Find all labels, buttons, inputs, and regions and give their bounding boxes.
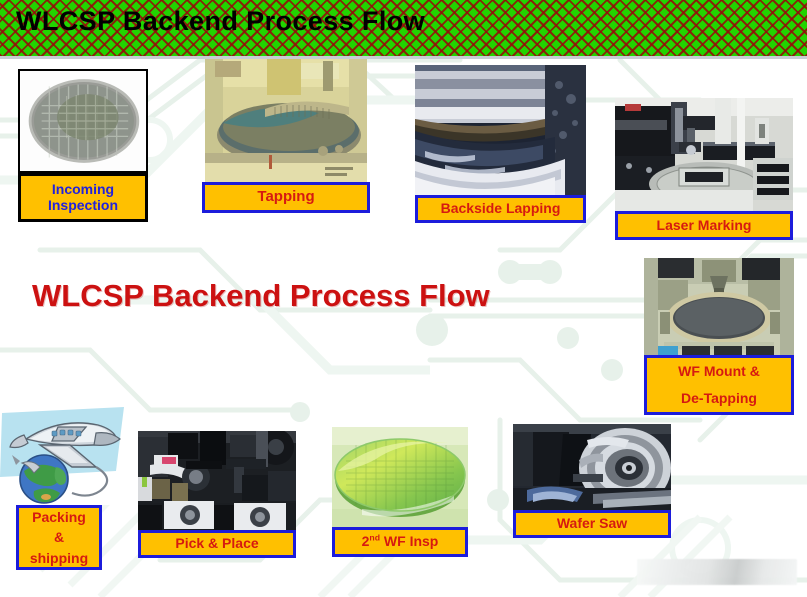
wafer-disc-photo bbox=[18, 69, 148, 173]
wf-mount-photo bbox=[644, 258, 794, 355]
step-label-laser-marking[interactable]: Laser Marking bbox=[615, 211, 793, 240]
watermark-blur bbox=[637, 559, 797, 585]
center-heading: WLCSP Backend Process Flow bbox=[32, 278, 490, 314]
step-label-wafer-saw[interactable]: Wafer Saw bbox=[513, 510, 671, 538]
label-line: 2nd WF Insp bbox=[362, 534, 439, 550]
backside-lapping-photo bbox=[415, 65, 586, 195]
process-step-wf-mount-de-tapping[interactable]: WF Mount & De-Tapping bbox=[644, 258, 794, 415]
process-step-laser-marking[interactable]: Laser Marking bbox=[615, 98, 793, 240]
tapping-machine-photo bbox=[205, 57, 367, 182]
process-step-incoming-inspection[interactable]: Incoming Inspection bbox=[18, 69, 148, 222]
step-label-backside-lapping[interactable]: Backside Lapping bbox=[415, 195, 586, 223]
label-line: De-Tapping bbox=[681, 385, 757, 412]
header-divider bbox=[0, 56, 807, 59]
process-step-backside-lapping[interactable]: Backside Lapping bbox=[415, 65, 586, 223]
step-label-tapping[interactable]: Tapping bbox=[202, 182, 370, 213]
page-title: WLCSP Backend Process Flow bbox=[16, 6, 425, 37]
label-line: WF Mount & bbox=[678, 358, 760, 385]
label-text-prefix: 2nd WF Insp bbox=[362, 533, 439, 549]
process-step-wafer-saw[interactable]: Wafer Saw bbox=[513, 424, 671, 538]
label-line: Tapping bbox=[257, 189, 314, 206]
label-line: Backside Lapping bbox=[441, 201, 561, 217]
process-step-packing-shipping[interactable]: Packing & shipping bbox=[8, 405, 120, 570]
label-line: Packing bbox=[32, 507, 86, 527]
airplane-globe-clipart bbox=[0, 405, 126, 505]
process-step-tapping[interactable]: Tapping bbox=[202, 57, 370, 213]
label-line: Wafer Saw bbox=[557, 516, 627, 532]
laser-marking-photo bbox=[615, 98, 793, 211]
wafer-saw-photo bbox=[513, 424, 671, 510]
label-line: Laser Marking bbox=[657, 218, 752, 234]
label-line: Pick & Place bbox=[175, 536, 258, 552]
step-label-packing-shipping[interactable]: Packing & shipping bbox=[16, 505, 102, 570]
pick-place-photo bbox=[138, 431, 296, 530]
step-label-second-wf-insp[interactable]: 2nd WF Insp bbox=[332, 527, 468, 557]
process-step-second-wf-insp[interactable]: 2nd WF Insp bbox=[332, 427, 468, 557]
label-line: & bbox=[54, 527, 64, 547]
step-label-pick-and-place[interactable]: Pick & Place bbox=[138, 530, 296, 558]
step-label-wf-mount-de-tapping[interactable]: WF Mount & De-Tapping bbox=[644, 355, 794, 415]
label-line: shipping bbox=[30, 548, 88, 568]
label-line: Incoming bbox=[52, 182, 114, 198]
step-label-incoming-inspection[interactable]: Incoming Inspection bbox=[18, 173, 148, 222]
label-line: Inspection bbox=[48, 198, 118, 214]
green-wafer-photo bbox=[332, 427, 468, 527]
process-step-pick-and-place[interactable]: Pick & Place bbox=[138, 431, 296, 558]
